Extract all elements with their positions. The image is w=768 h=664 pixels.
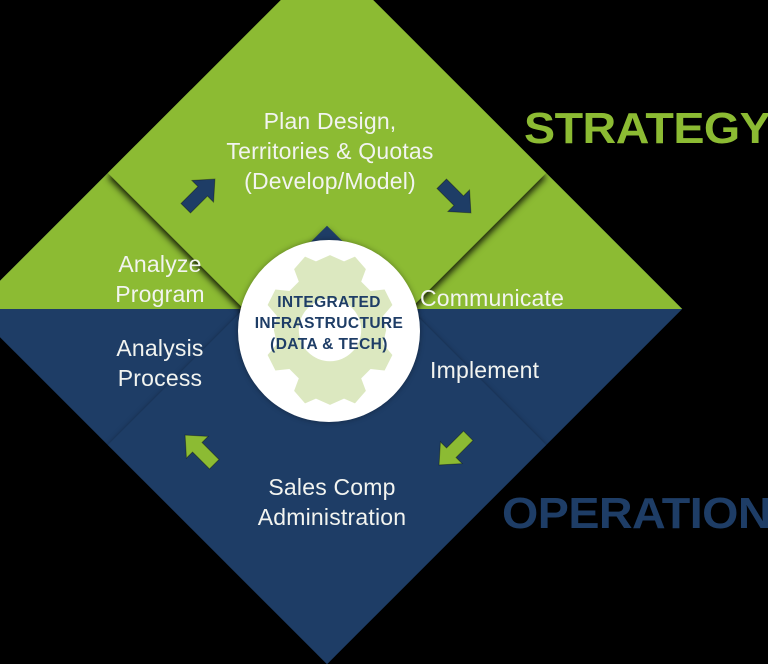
center-hub[interactable]: INTEGRATED INFRASTRUCTURE (DATA & TECH) [238, 240, 420, 422]
arrow-down-left-icon [430, 426, 478, 474]
diagram-canvas: Plan Design, Territories & Quotas (Devel… [0, 0, 768, 664]
arrow-up-right-icon [176, 170, 224, 218]
arrow-down-right-icon [432, 174, 480, 222]
center-hub-label: INTEGRATED INFRASTRUCTURE (DATA & TECH) [238, 292, 420, 355]
caption-operations: OPERATIONS [502, 489, 768, 539]
caption-strategy: STRATEGY [524, 104, 768, 154]
arrow-up-left-icon [176, 426, 224, 474]
